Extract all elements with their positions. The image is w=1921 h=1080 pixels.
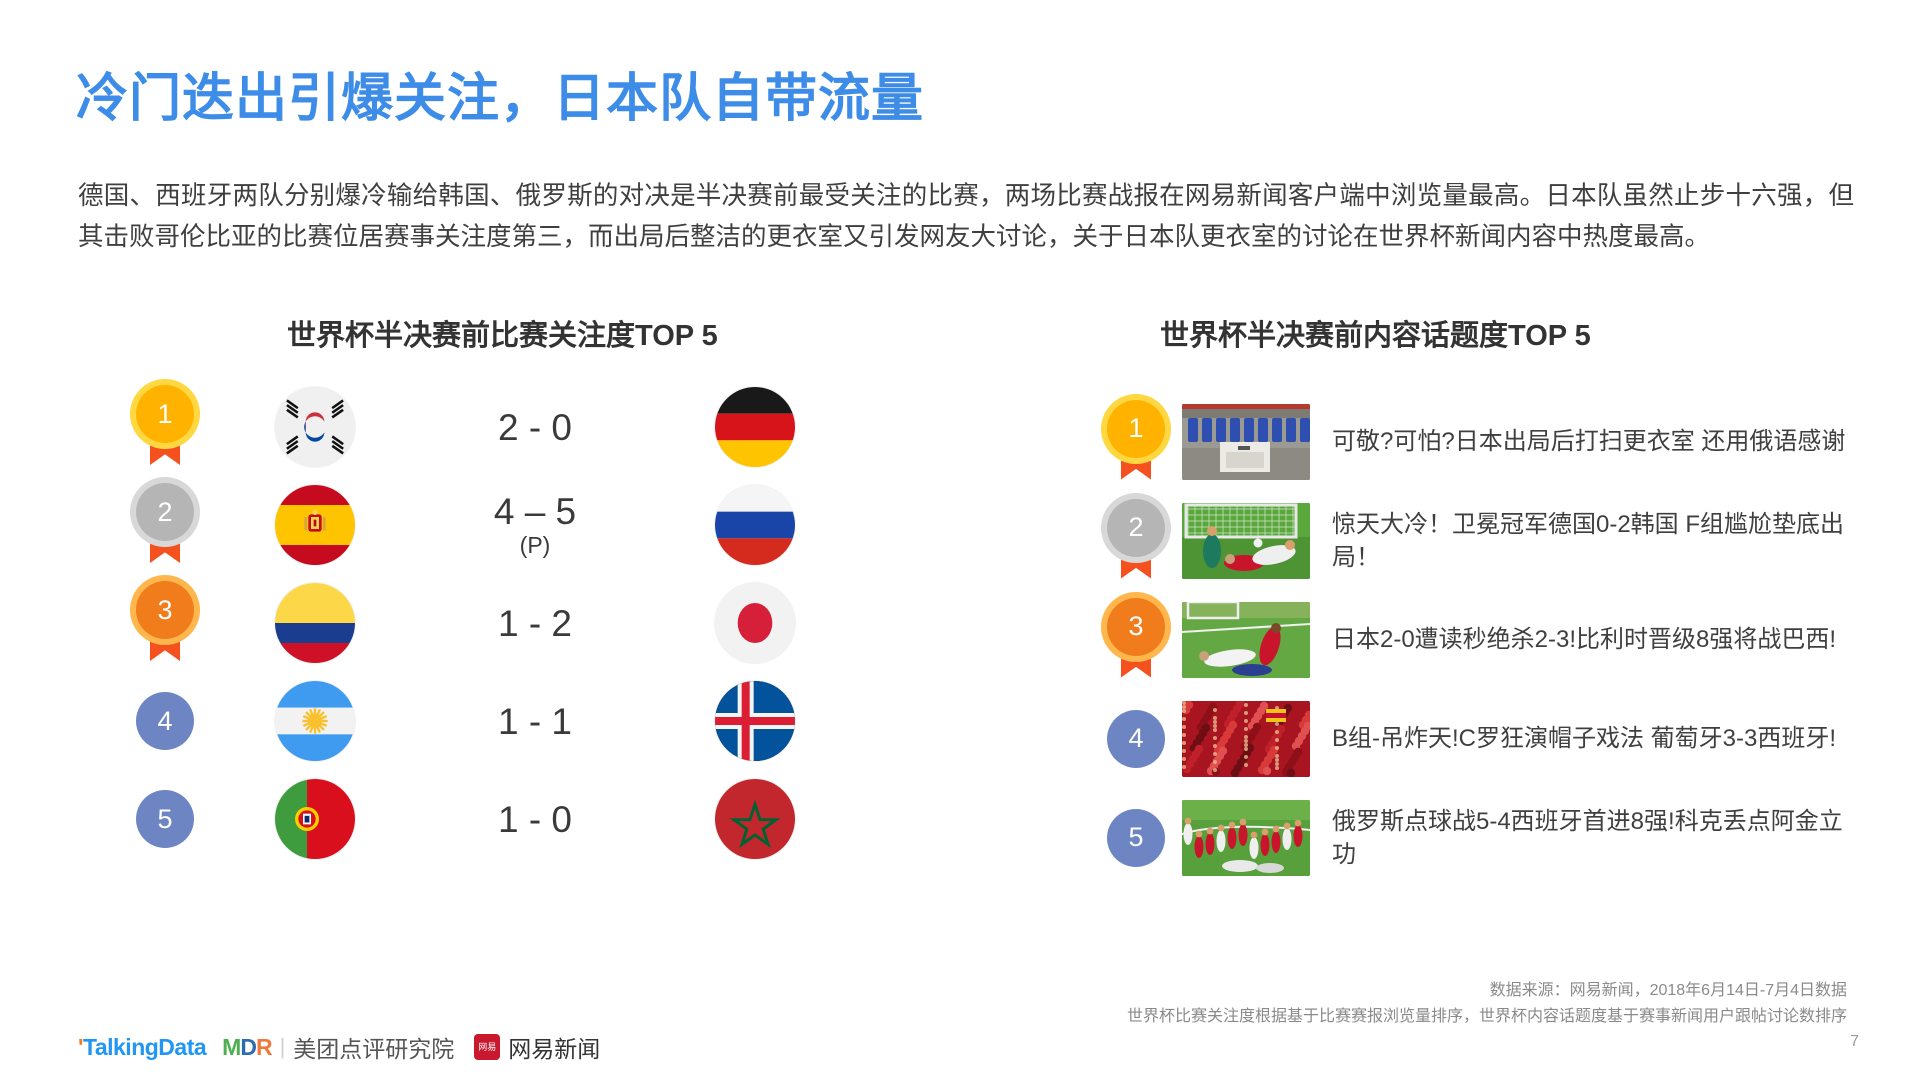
match-row: 3 1 - 2: [110, 574, 910, 672]
news-row[interactable]: 3 日本2-0遭读秒绝杀2-3!比利时晋级8强将战巴西!: [1090, 590, 1880, 689]
away-flag-cell: [660, 485, 850, 565]
goal-save-thumbnail[interactable]: [1182, 503, 1310, 579]
talkingdata-logo: 'TalkingData: [78, 1034, 206, 1061]
red-crowd-thumbnail[interactable]: [1182, 701, 1310, 777]
news-row[interactable]: 4 B组-吊炸天!C罗狂演帽子戏法 葡萄牙3-3西班牙!: [1090, 689, 1880, 788]
netease-news-logo: 网易新闻: [508, 1030, 600, 1064]
match-score-text: 2 - 0: [498, 407, 572, 448]
match-rank-cell: 1: [110, 385, 220, 469]
match-rank-5-number: 5: [157, 804, 172, 835]
away-flag-cell: [660, 779, 850, 859]
news-rank-1-badge: 1: [1107, 400, 1165, 458]
logo-separator: |: [280, 1034, 286, 1060]
portugal-flag-icon: [275, 779, 355, 859]
match-row: 5 1 - 0: [110, 770, 910, 868]
match-score-text: 1 - 1: [498, 701, 572, 742]
home-flag-cell: [220, 681, 410, 761]
match-rank-2-badge: 2: [136, 483, 194, 541]
match-rank-5-badge: 5: [136, 790, 194, 848]
news-rank-3-badge: 3: [1107, 598, 1165, 656]
match-rank-2-medal-icon: 2: [136, 483, 194, 567]
match-rank-3-number: 3: [157, 595, 172, 626]
source-note: 数据来源：网易新闻，2018年6月14日-7月4日数据 世界杯比赛关注度根据基于…: [1127, 978, 1847, 1030]
news-rank-5-number: 5: [1128, 822, 1143, 853]
match-score-text: 4 – 5: [494, 491, 576, 532]
news-rank-4-number: 4: [1128, 723, 1143, 754]
match-row: 2 4 – 5 (P): [110, 476, 910, 574]
away-flag-cell: [660, 583, 850, 663]
away-flag-cell: [660, 387, 850, 467]
match-rank-1-medal-icon: 1: [136, 385, 194, 469]
match-score-text: 1 - 2: [498, 603, 572, 644]
source-line-2: 世界杯比赛关注度根据基于比赛赛报浏览量排序，世界杯内容话题度基于赛事新闻用户跟帖…: [1127, 1004, 1847, 1030]
morocco-flag-icon: [715, 779, 795, 859]
news-rank-5-badge: 5: [1107, 809, 1165, 867]
match-rank-4-badge: 4: [136, 692, 194, 750]
home-flag-cell: [220, 485, 410, 565]
penalty-note: (P): [410, 534, 660, 557]
meituan-research-logo: 美团点评研究院: [293, 1030, 454, 1064]
news-rank-cell: 5: [1090, 809, 1182, 867]
team-celebration-thumbnail[interactable]: [1182, 800, 1310, 876]
news-row[interactable]: 5 俄罗斯点球战5-4西班牙首进8强!科克丢点阿金立功: [1090, 788, 1880, 887]
home-flag-cell: [220, 387, 410, 467]
match-score: 1 - 1: [410, 703, 660, 740]
south-korea-flag-icon: [275, 387, 355, 467]
topic-ranking-list: 1 可敬?可怕?日本出局后打扫更衣室 还用俄语感谢 2 惊天大冷！卫冕冠军德国0…: [1090, 392, 1880, 887]
news-title[interactable]: B组-吊炸天!C罗狂演帽子戏法 葡萄牙3-3西班牙!: [1332, 722, 1836, 755]
match-rank-cell: 4: [110, 692, 220, 750]
match-score-text: 1 - 0: [498, 799, 572, 840]
logo-bar: 'TalkingData MDR | 美团点评研究院 网易 网易新闻: [78, 1030, 600, 1064]
news-rank-1-medal-icon: 1: [1107, 400, 1165, 484]
news-row[interactable]: 2 惊天大冷！卫冕冠军德国0-2韩国 F组尴尬垫底出局！: [1090, 491, 1880, 590]
match-ranking-list: 1 2 - 0 2 4 – 5 (: [110, 378, 910, 868]
left-panel-heading: 世界杯半决赛前比赛关注度TOP 5: [287, 312, 718, 354]
match-score: 1 - 0: [410, 801, 660, 838]
lead-paragraph: 德国、西班牙两队分别爆冷输给韩国、俄罗斯的对决是半决赛前最受关注的比赛，两场比赛…: [78, 176, 1854, 258]
match-rank-3-badge: 3: [136, 581, 194, 639]
news-title[interactable]: 可敬?可怕?日本出局后打扫更衣室 还用俄语感谢: [1332, 425, 1845, 458]
locker-room-thumbnail[interactable]: [1182, 404, 1310, 480]
news-rank-4-badge: 4: [1107, 710, 1165, 768]
news-rank-1-number: 1: [1128, 413, 1143, 444]
iceland-flag-icon: [715, 681, 795, 761]
news-rank-2-badge: 2: [1107, 499, 1165, 557]
news-rank-2-number: 2: [1128, 512, 1143, 543]
source-line-1: 数据来源：网易新闻，2018年6月14日-7月4日数据: [1127, 978, 1847, 1004]
right-panel-heading: 世界杯半决赛前内容话题度TOP 5: [1160, 312, 1591, 354]
away-flag-cell: [660, 681, 850, 761]
news-rank-2-medal-icon: 2: [1107, 499, 1165, 583]
match-rank-cell: 3: [110, 581, 220, 665]
news-rank-cell: 4: [1090, 710, 1182, 768]
news-rank-3-number: 3: [1128, 611, 1143, 642]
news-rank-3-medal-icon: 3: [1107, 598, 1165, 682]
page-number: 7: [1850, 1033, 1859, 1051]
mdr-logo: MDR: [222, 1034, 271, 1061]
netease-mark-icon: 网易: [474, 1034, 500, 1060]
slide-root: 冷门迭出引爆关注，日本队自带流量 德国、西班牙两队分别爆冷输给韩国、俄罗斯的对决…: [0, 0, 1921, 1080]
news-title[interactable]: 日本2-0遭读秒绝杀2-3!比利时晋级8强将战巴西!: [1332, 623, 1836, 656]
players-ground-thumbnail[interactable]: [1182, 602, 1310, 678]
match-rank-cell: 2: [110, 483, 220, 567]
germany-flag-icon: [715, 387, 795, 467]
match-score: 2 - 0: [410, 409, 660, 446]
spain-flag-icon: [275, 485, 355, 565]
match-row: 1 2 - 0: [110, 378, 910, 476]
match-score: 1 - 2: [410, 605, 660, 642]
match-row: 4 1 - 1: [110, 672, 910, 770]
news-title[interactable]: 俄罗斯点球战5-4西班牙首进8强!科克丢点阿金立功: [1332, 805, 1852, 871]
match-score: 4 – 5 (P): [410, 493, 660, 557]
match-rank-1-number: 1: [157, 399, 172, 430]
match-rank-4-number: 4: [157, 706, 172, 737]
match-rank-3-medal-icon: 3: [136, 581, 194, 665]
home-flag-cell: [220, 583, 410, 663]
news-row[interactable]: 1 可敬?可怕?日本出局后打扫更衣室 还用俄语感谢: [1090, 392, 1880, 491]
news-rank-cell: 3: [1090, 598, 1182, 682]
japan-flag-icon: [715, 583, 795, 663]
news-rank-cell: 1: [1090, 400, 1182, 484]
match-rank-2-number: 2: [157, 497, 172, 528]
news-rank-cell: 2: [1090, 499, 1182, 583]
argentina-flag-icon: [275, 681, 355, 761]
home-flag-cell: [220, 779, 410, 859]
match-rank-cell: 5: [110, 790, 220, 848]
news-title[interactable]: 惊天大冷！卫冕冠军德国0-2韩国 F组尴尬垫底出局！: [1332, 508, 1852, 574]
russia-flag-icon: [715, 485, 795, 565]
match-rank-1-badge: 1: [136, 385, 194, 443]
page-title: 冷门迭出引爆关注，日本队自带流量: [76, 56, 924, 131]
colombia-flag-icon: [275, 583, 355, 663]
